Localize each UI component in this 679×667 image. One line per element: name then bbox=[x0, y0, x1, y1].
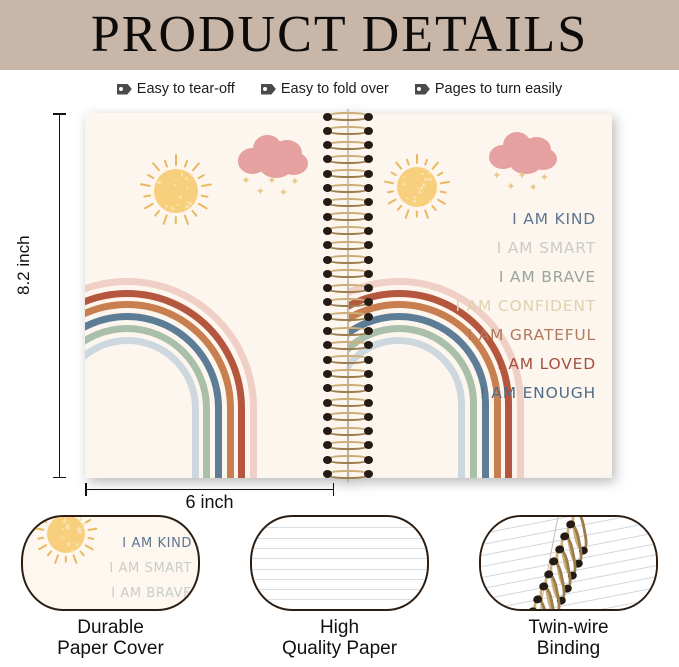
caption-line-1: Durable bbox=[57, 617, 164, 638]
caption-line-2: Binding bbox=[528, 638, 608, 659]
paper-rule-line bbox=[252, 569, 427, 570]
thumbnail-row: I AM KINDI AM SMARTI AM BRAVE Durable Pa… bbox=[0, 515, 679, 667]
rainbow-graphic bbox=[85, 278, 257, 478]
mini-affirmation-line: I AM BRAVE bbox=[109, 581, 192, 606]
binding-coil bbox=[320, 454, 376, 466]
thumbnail-twin-wire-binding: Twin-wire Binding bbox=[476, 515, 661, 667]
sun-icon bbox=[133, 148, 219, 234]
height-dimension-label: 8.2 inch bbox=[14, 235, 34, 295]
binding-closeup bbox=[481, 517, 656, 609]
affirmation-line: I AM BRAVE bbox=[456, 263, 597, 292]
binding-coil bbox=[320, 440, 376, 452]
sun-icon bbox=[378, 148, 456, 226]
tag-icon bbox=[415, 84, 430, 95]
binding-coil bbox=[320, 125, 376, 137]
thumbnail-caption: Twin-wire Binding bbox=[528, 617, 608, 660]
caption-line-1: High bbox=[282, 617, 397, 638]
binding-coil bbox=[320, 111, 376, 123]
spiral-binding bbox=[316, 109, 380, 482]
notebook-spread: ✦✦✦✦✦ ✦✦✦✦✦ I AM KINDI AM SMARTI AM BRAV… bbox=[85, 113, 612, 478]
mini-affirmation-line: I AM KIND bbox=[109, 531, 192, 556]
binding-coil bbox=[320, 240, 376, 252]
paper-rule-line bbox=[252, 589, 427, 590]
sun-icon bbox=[29, 515, 103, 571]
binding-coil bbox=[320, 197, 376, 209]
affirmation-line: I AM ENOUGH bbox=[456, 379, 597, 408]
notebook-right-page: ✦✦✦✦✦ I AM KINDI AM SMARTI AM BRAVEI AM … bbox=[348, 113, 612, 478]
thumbnail-caption: High Quality Paper bbox=[282, 617, 397, 660]
feature-list: Easy to tear-off Easy to fold over Pages… bbox=[0, 78, 679, 100]
cloud-icon: ✦✦✦✦✦ bbox=[488, 125, 558, 183]
notebook-left-page: ✦✦✦✦✦ bbox=[85, 113, 350, 478]
paper-rule-line bbox=[252, 538, 427, 539]
binding-coil bbox=[320, 397, 376, 409]
feature-item-fold-over: Easy to fold over bbox=[261, 81, 389, 97]
binding-coil bbox=[320, 254, 376, 266]
feature-item-turn-easily: Pages to turn easily bbox=[415, 81, 562, 97]
binding-coil bbox=[320, 168, 376, 180]
binding-coil bbox=[320, 140, 376, 152]
affirmation-list: I AM KINDI AM SMARTI AM BRAVEI AM CONFID… bbox=[456, 205, 597, 408]
binding-coil bbox=[320, 311, 376, 323]
page-title: PRODUCT DETAILS bbox=[0, 0, 679, 70]
feature-label: Pages to turn easily bbox=[435, 81, 562, 97]
binding-coil bbox=[320, 283, 376, 295]
feature-label: Easy to tear-off bbox=[137, 81, 235, 97]
cloud-icon: ✦✦✦✦✦ bbox=[237, 128, 309, 188]
binding-coil bbox=[320, 183, 376, 195]
height-dimension-line bbox=[59, 113, 60, 478]
affirmation-line: I AM CONFIDENT bbox=[456, 292, 597, 321]
binding-coil bbox=[320, 211, 376, 223]
binding-coil bbox=[320, 426, 376, 438]
thumbnail-durable-paper-cover: I AM KINDI AM SMARTI AM BRAVE Durable Pa… bbox=[18, 515, 203, 667]
binding-coil bbox=[320, 297, 376, 309]
tag-icon bbox=[261, 84, 276, 95]
binding-coil bbox=[320, 268, 376, 280]
affirmation-line: I AM GRATEFUL bbox=[456, 321, 597, 350]
binding-coil bbox=[320, 411, 376, 423]
caption-line-2: Paper Cover bbox=[57, 638, 164, 659]
paper-rule-line bbox=[252, 579, 427, 580]
thumbnail-caption: Durable Paper Cover bbox=[57, 617, 164, 660]
thumbnail-image: I AM KINDI AM SMARTI AM BRAVE bbox=[21, 515, 200, 611]
thumbnail-image bbox=[250, 515, 429, 611]
feature-item-tear-off: Easy to tear-off bbox=[117, 81, 235, 97]
thumbnail-high-quality-paper: High Quality Paper bbox=[247, 515, 432, 667]
binding-coil bbox=[320, 469, 376, 481]
binding-coil bbox=[320, 154, 376, 166]
mini-affirmation-list: I AM KINDI AM SMARTI AM BRAVE bbox=[109, 531, 192, 606]
mini-affirmation-line: I AM SMART bbox=[109, 556, 192, 581]
paper-rule-line bbox=[252, 558, 427, 559]
width-dimension-label: 6 inch bbox=[85, 492, 334, 513]
binding-coil bbox=[320, 340, 376, 352]
binding-coil bbox=[320, 225, 376, 237]
caption-line-2: Quality Paper bbox=[282, 638, 397, 659]
paper-rule-line bbox=[252, 527, 427, 528]
affirmation-line: I AM KIND bbox=[456, 205, 597, 234]
affirmation-line: I AM LOVED bbox=[456, 350, 597, 379]
caption-line-1: Twin-wire bbox=[528, 617, 608, 638]
paper-rule-line bbox=[252, 599, 427, 600]
width-dimension-line bbox=[85, 489, 334, 490]
binding-coil bbox=[320, 368, 376, 380]
product-details-infographic: PRODUCT DETAILS Easy to tear-off Easy to… bbox=[0, 0, 679, 667]
feature-label: Easy to fold over bbox=[281, 81, 389, 97]
binding-coil bbox=[320, 383, 376, 395]
tag-icon bbox=[117, 84, 132, 95]
paper-rule-line bbox=[252, 548, 427, 549]
binding-coil bbox=[320, 326, 376, 338]
thumbnail-image bbox=[479, 515, 658, 611]
affirmation-line: I AM SMART bbox=[456, 234, 597, 263]
binding-coil bbox=[320, 354, 376, 366]
